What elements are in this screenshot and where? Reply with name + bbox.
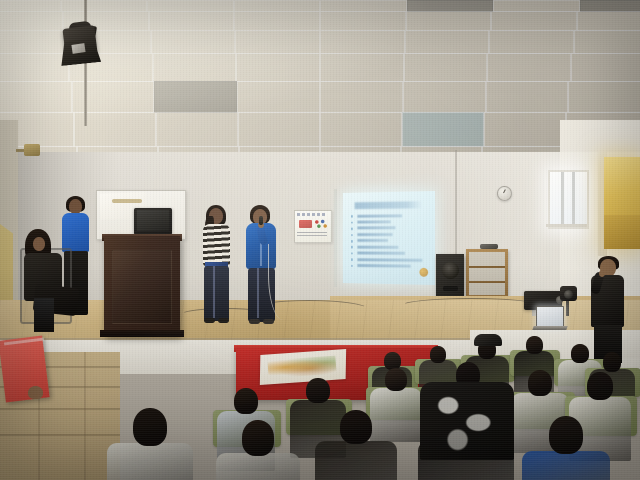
seated-legs	[34, 298, 54, 332]
audience-member-head	[526, 336, 543, 354]
poster-red-block	[299, 220, 312, 228]
slide-bullet-line	[357, 220, 391, 223]
audience-member-head	[430, 346, 446, 363]
audience-member-head	[340, 410, 372, 444]
patterned-jacket	[420, 382, 514, 460]
floor-step-line	[0, 408, 120, 410]
camera-tripod	[566, 300, 569, 316]
monitor-screen	[137, 210, 169, 231]
slide-bullet-line	[357, 214, 401, 217]
boy-blue-shirt	[62, 213, 89, 252]
laptop-keyboard	[532, 326, 567, 330]
slide-bullet-marker	[351, 246, 353, 248]
flipchart-clip	[112, 199, 142, 203]
back-window	[548, 170, 589, 229]
camera-lens-icon	[564, 290, 573, 299]
slide-bullet-list	[351, 214, 428, 272]
slide-logo-icon	[420, 268, 429, 277]
audience-member-head	[571, 344, 589, 363]
speaker-cone-icon	[442, 262, 459, 279]
shelf-board	[469, 266, 505, 268]
slide-bullet-line	[357, 252, 405, 255]
audience-member-head	[306, 378, 330, 403]
slide-bullet-line	[357, 264, 411, 268]
wall-sconce-icon	[24, 144, 40, 156]
shelf-interior	[469, 252, 505, 295]
speaker-port	[443, 286, 458, 291]
man-hand	[599, 270, 605, 277]
slide-bullet-marker	[351, 259, 353, 261]
trouser-side-stripe	[257, 268, 259, 318]
audience-member-body	[370, 388, 422, 442]
photograph-scene: Two student presenters stand on a raised…	[0, 0, 640, 480]
podium-front-panel	[112, 250, 172, 324]
audience-member-head	[385, 368, 407, 391]
audience-member-head	[587, 372, 613, 400]
window-mullion	[572, 172, 575, 227]
presenter-shoe	[204, 318, 215, 323]
slide-bullet-marker	[351, 234, 353, 236]
slide-bullet-line	[357, 233, 393, 236]
shelf-board	[469, 281, 505, 283]
audience-member-head	[528, 370, 552, 396]
slide-bullet-line	[357, 227, 395, 230]
slide-bullet-line	[357, 246, 398, 249]
slide-bullet-line	[357, 239, 387, 242]
tile-grout	[84, 352, 86, 480]
slide-bullet-marker	[351, 252, 353, 254]
slide-bullet-marker	[351, 265, 353, 267]
boy-head	[69, 199, 82, 214]
projected-slide	[343, 191, 435, 285]
presenter-shoe	[263, 319, 274, 324]
gold-window-lower	[604, 215, 640, 249]
presenter-trousers	[204, 266, 229, 321]
floor-cable	[400, 298, 542, 314]
slide-title-text	[354, 202, 422, 209]
audience-member-head	[133, 408, 167, 446]
window-mullion	[561, 172, 564, 227]
audience-member-head	[549, 416, 583, 454]
window-sill	[546, 224, 587, 227]
folder-holder-hand	[28, 386, 43, 399]
audience-member-body	[522, 451, 610, 480]
poster-heading	[297, 213, 327, 216]
presenter-shoe	[249, 319, 260, 324]
poster-graphics	[314, 219, 328, 229]
presenter-shoe	[218, 318, 229, 323]
floor-step-line	[0, 434, 120, 436]
audience-member-head	[234, 388, 258, 414]
laptop-screen	[536, 306, 564, 328]
audience-member-body	[315, 441, 397, 480]
slide-bullet-marker	[351, 240, 353, 242]
baseball-cap-icon	[474, 334, 502, 346]
audience-member-head	[242, 420, 274, 456]
slide-bullet-marker	[351, 227, 353, 229]
audience-member-body	[107, 443, 193, 480]
seated-face	[33, 237, 45, 251]
podium-base	[100, 330, 184, 337]
trouser-side-stripe	[213, 266, 215, 318]
slide-bullet-line	[357, 258, 422, 262]
presenter-striped-sweater	[203, 224, 230, 266]
slide-bullet-marker	[351, 215, 353, 217]
audience-member-head	[603, 352, 621, 372]
shelf-top-object	[480, 244, 498, 249]
projection-screen	[343, 191, 435, 285]
poster-text-lines	[297, 232, 327, 238]
audience-member-body	[216, 453, 300, 480]
slide-bullet-marker	[351, 221, 353, 223]
microphone-icon	[259, 216, 263, 225]
spotlight-lens	[71, 43, 85, 54]
